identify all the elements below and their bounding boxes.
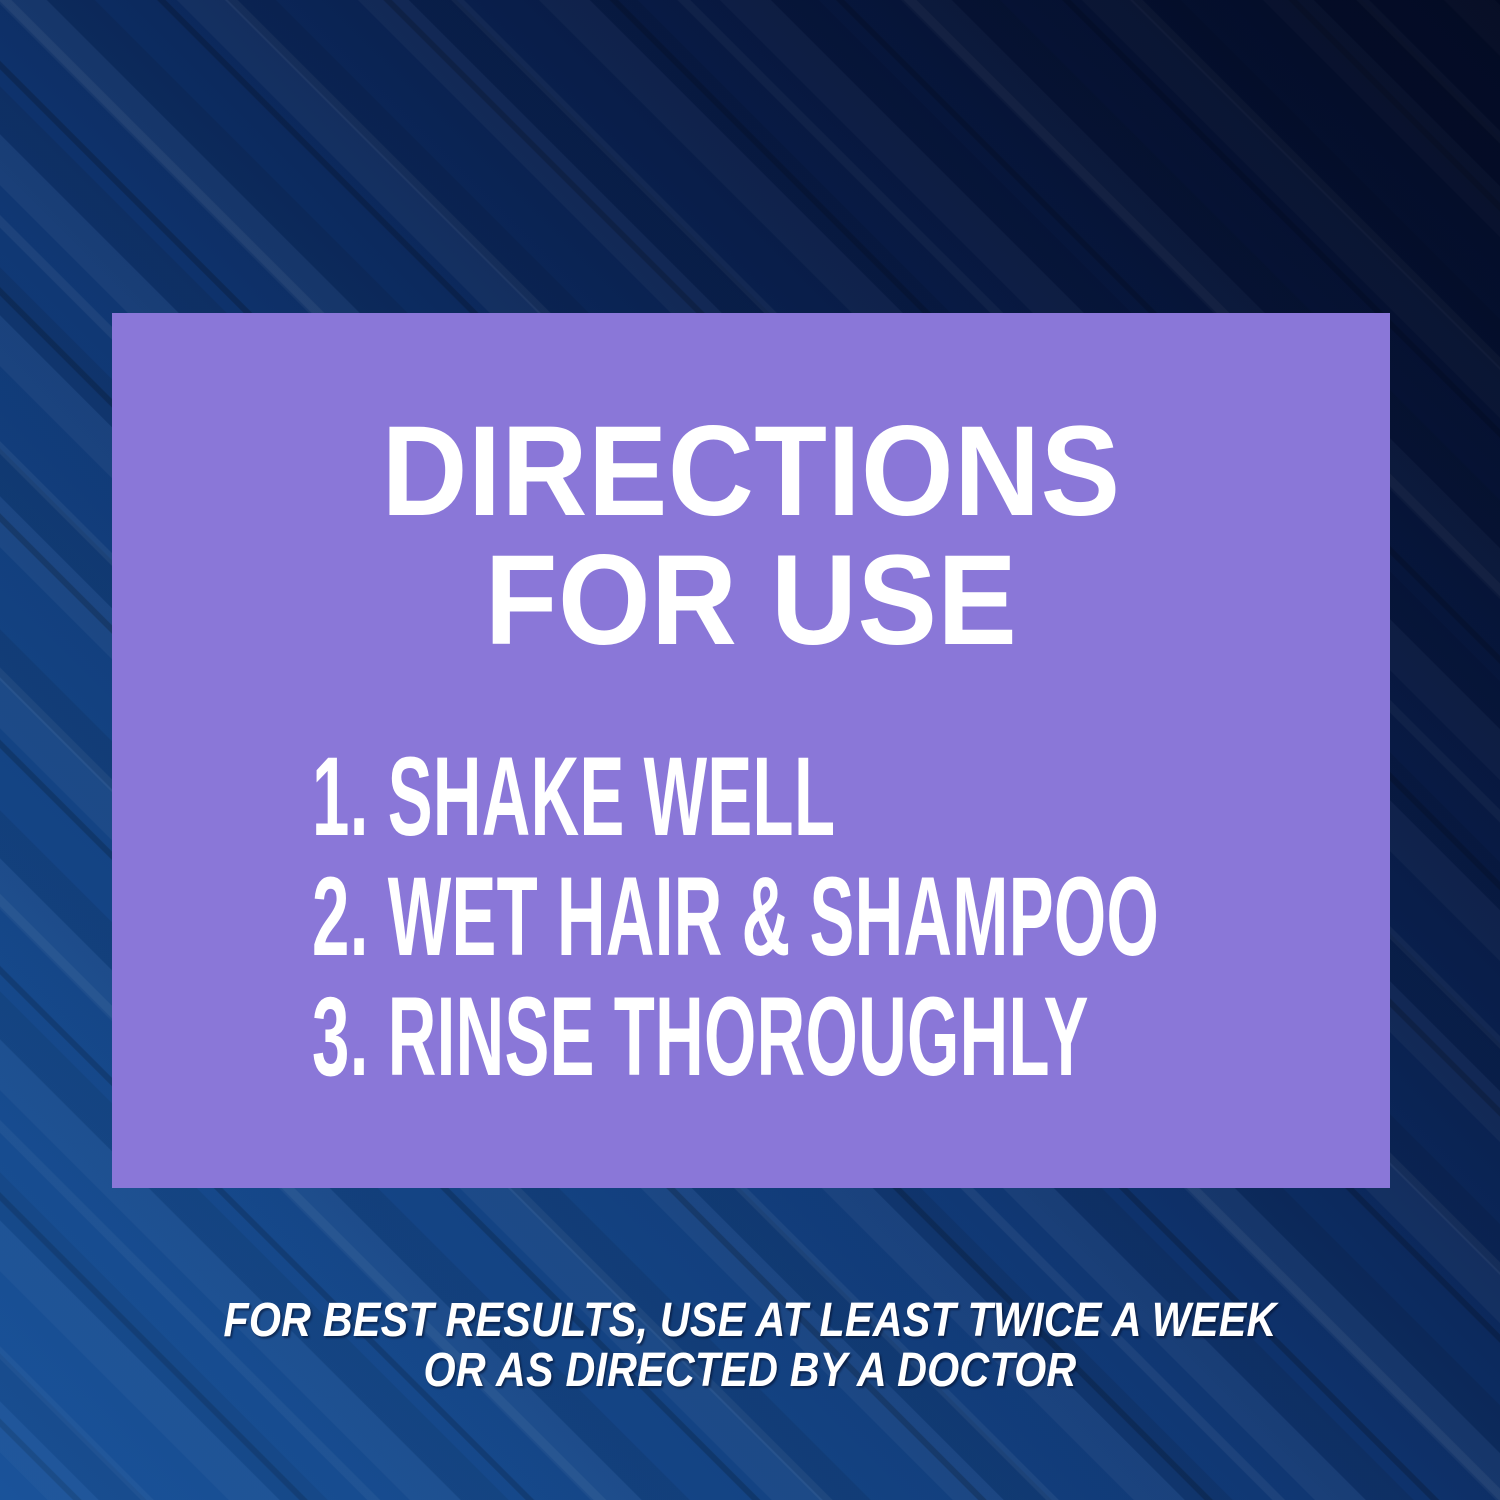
directions-step-list: 1. SHAKE WELL 2. WET HAIR & SHAMPOO 3. R…: [312, 737, 1500, 1097]
panel-title-line-1: DIRECTIONS: [157, 409, 1346, 534]
directions-for-use-poster: DIRECTIONS FOR USE 1. SHAKE WELL 2. WET …: [0, 0, 1500, 1500]
footer-caption: FOR BEST RESULTS, USE AT LEAST TWICE A W…: [105, 1296, 1395, 1396]
panel-title-line-2: FOR USE: [157, 538, 1346, 663]
directions-panel: DIRECTIONS FOR USE 1. SHAKE WELL 2. WET …: [112, 313, 1390, 1188]
panel-title: DIRECTIONS FOR USE: [157, 409, 1346, 664]
footer-caption-line-1: FOR BEST RESULTS, USE AT LEAST TWICE A W…: [105, 1296, 1395, 1346]
footer-caption-line-2: OR AS DIRECTED BY A DOCTOR: [105, 1346, 1395, 1396]
list-item: 2. WET HAIR & SHAMPOO: [312, 857, 1159, 977]
list-item: 3. RINSE THOROUGHLY: [312, 977, 1159, 1097]
panel-content: DIRECTIONS FOR USE 1. SHAKE WELL 2. WET …: [112, 313, 1390, 1188]
list-item: 1. SHAKE WELL: [312, 737, 1159, 857]
